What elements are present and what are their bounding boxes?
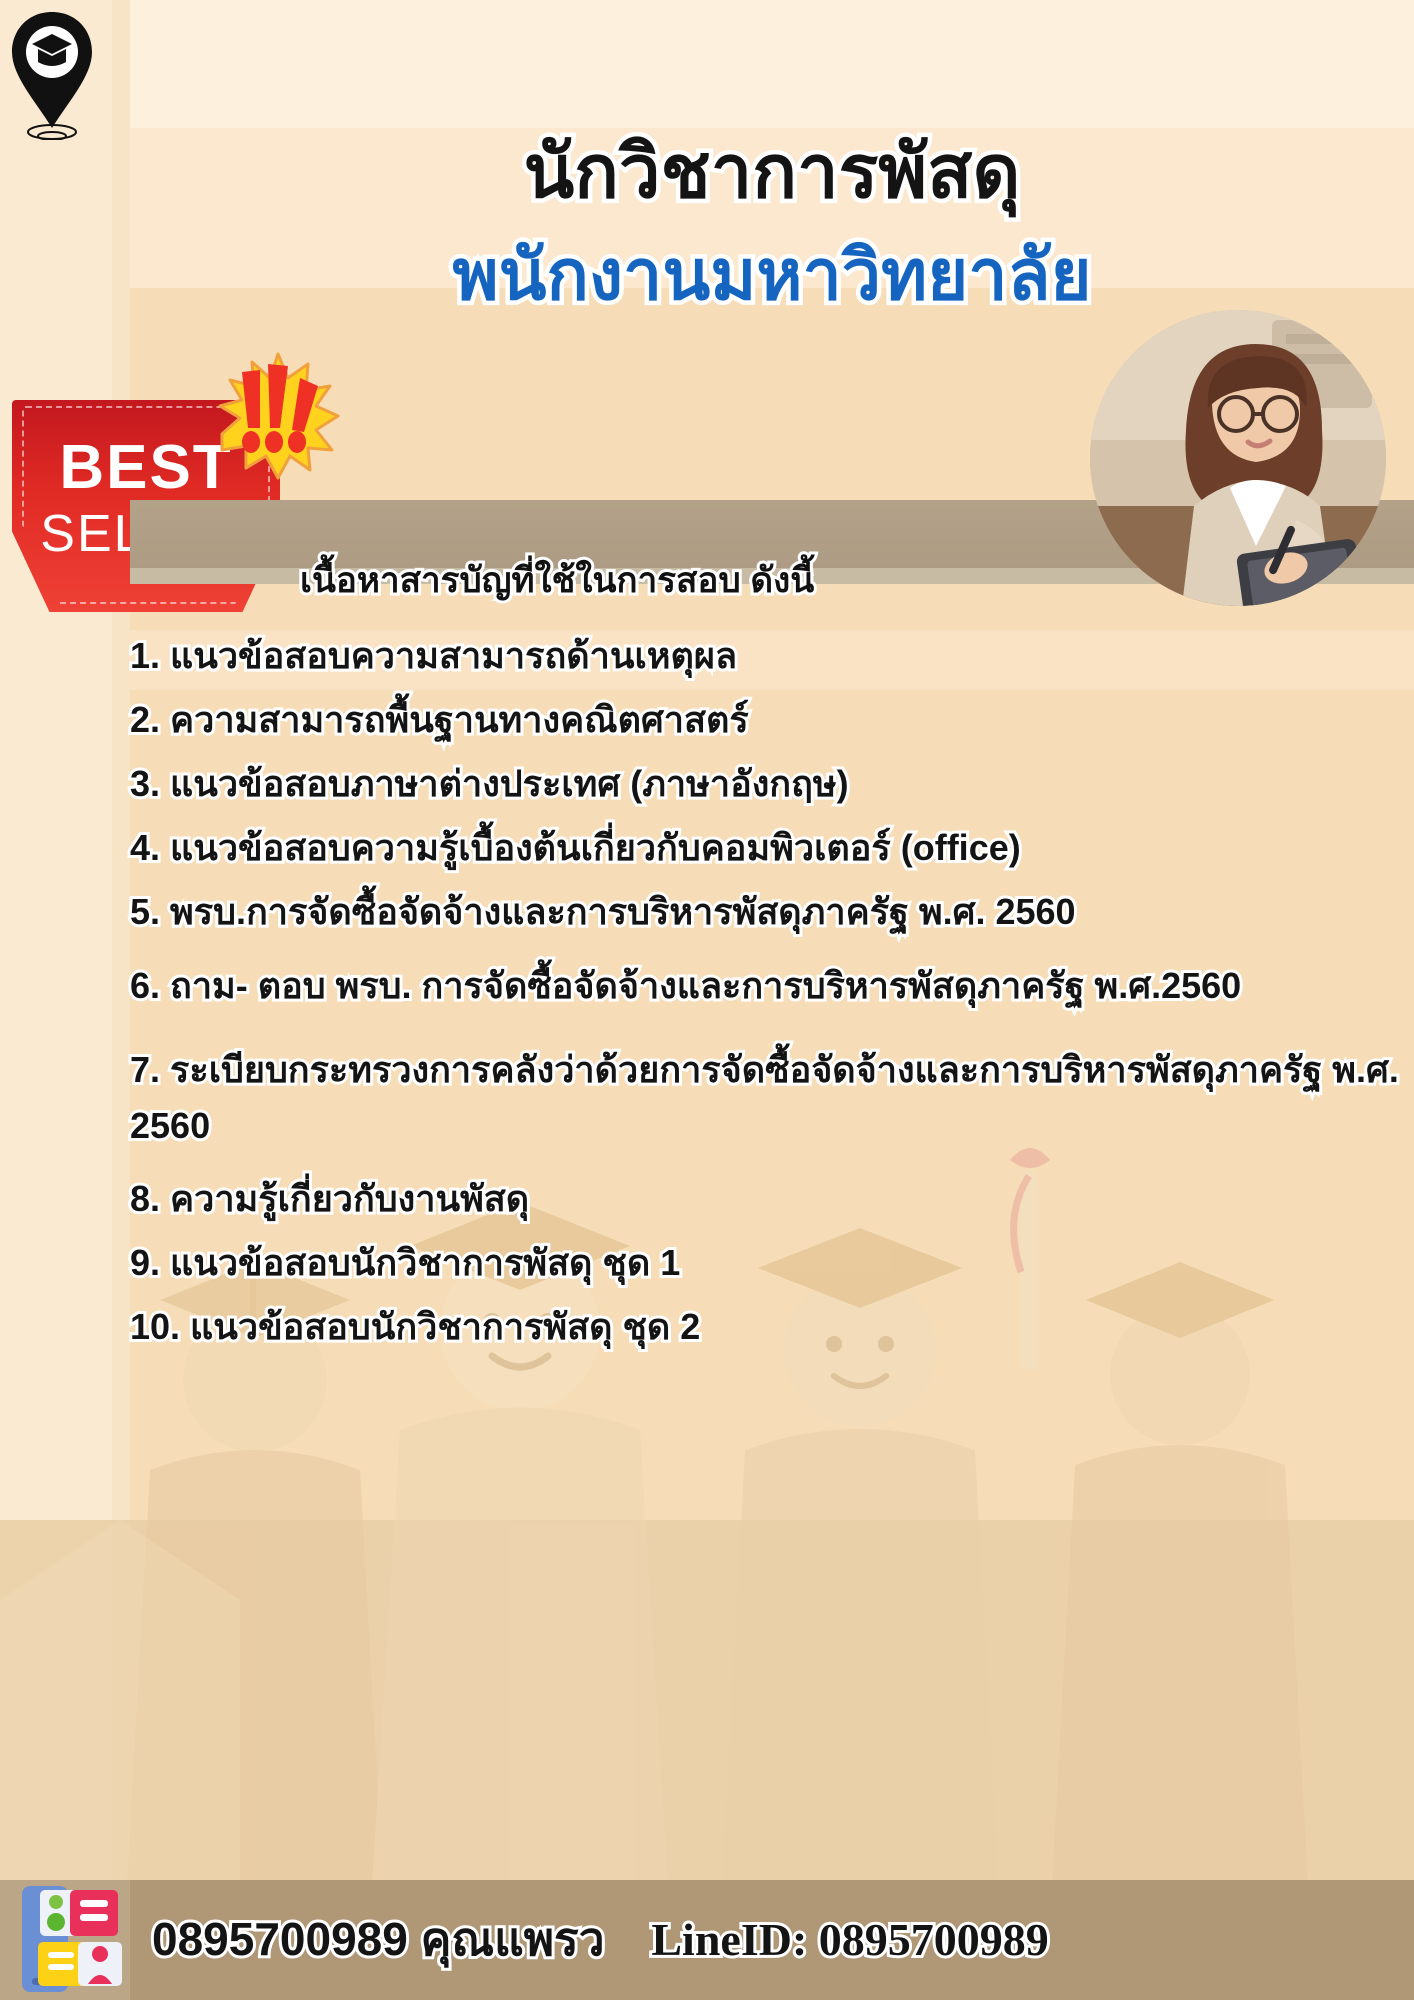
list-item: 2. ความสามารถพื้นฐานทางคณิตศาสตร์ [128, 702, 1408, 738]
section-banner-label: เนื้อหาสารบัญที่ใช้ในการสอบ ดังนี้ [300, 553, 980, 608]
poster-canvas: นักวิชาการพัสดุ พนักงานมหาวิทยาลัย BEST … [0, 0, 1414, 2000]
footer-line-id: 0895700989 [819, 1914, 1049, 1965]
list-item: 7. ระเบียบกระทรวงการคลังว่าด้วยการจัดซื้… [128, 1042, 1408, 1154]
page-subtitle: พนักงานมหาวิทยาลัย [130, 233, 1414, 317]
list-item: 3. แนวข้อสอบภาษาต่างประเทศ (ภาษาอังกฤษ) [128, 766, 1408, 802]
list-item: 4. แนวข้อสอบความรู้เบื้องต้นเกี่ยวกับคอม… [128, 830, 1408, 866]
footer-line-label: LineID: [651, 1914, 807, 1965]
list-item: 9. แนวข้อสอบนักวิชาการพัสดุ ชุด 1 [128, 1245, 1408, 1281]
list-item: 1. แนวข้อสอบความสามารถด้านเหตุผล [128, 638, 1408, 674]
list-item: 8. ความรู้เกี่ยวกับงานพัสดุ [128, 1181, 1408, 1217]
list-item: 10. แนวข้อสอบนักวิชาการพัสดุ ชุด 2 [128, 1309, 1408, 1345]
footer-phone: 0895700989 [152, 1913, 408, 1965]
graduation-pin-icon [6, 10, 98, 140]
footer-contact-name: คุณแพรว [421, 1913, 605, 1965]
content-list: 1. แนวข้อสอบความสามารถด้านเหตุผล 2. ความ… [128, 638, 1408, 1373]
contact-card-icon [18, 1886, 122, 1992]
list-item: 6. ถาม- ตอบ พรบ. การจัดซื้อจัดจ้างและการ… [128, 958, 1408, 1014]
page-title: นักวิชาการพัสดุ [130, 128, 1414, 215]
background-band-top [0, 0, 1414, 128]
exclamation-burst-icon [212, 342, 342, 482]
list-item: 5. พรบ.การจัดซื้อจัดจ้างและการบริหารพัสด… [128, 894, 1408, 930]
footer-contact: 0895700989 คุณแพรว LineID: 0895700989 [152, 1903, 1049, 1976]
woman-studying-photo [1090, 310, 1386, 606]
